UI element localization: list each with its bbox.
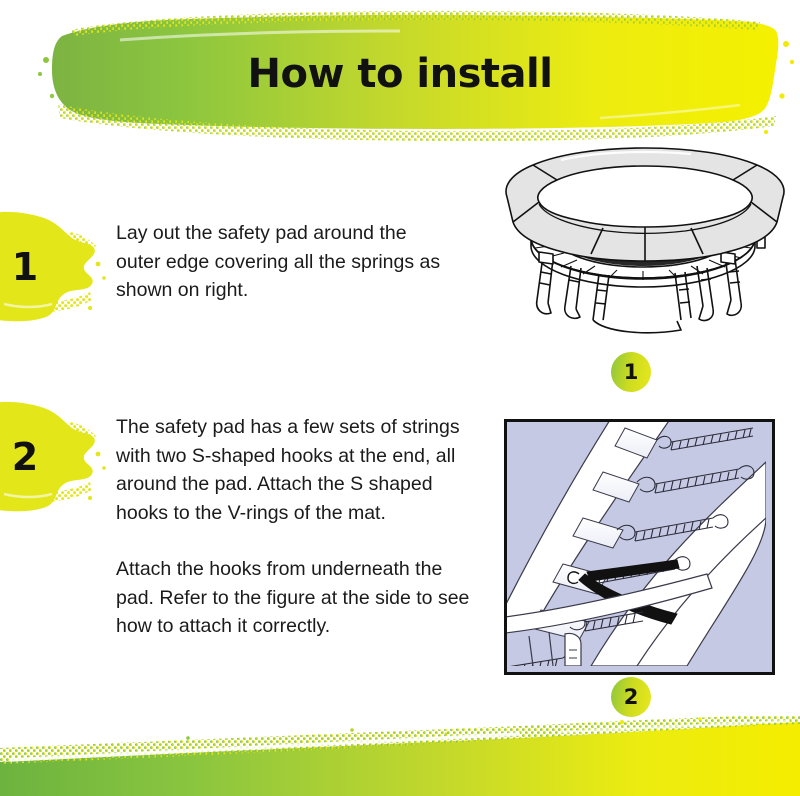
step-2-paragraph-1: The safety pad has a few sets of strings… bbox=[116, 413, 474, 527]
page-title: How to install bbox=[0, 50, 800, 98]
footer-brush-banner bbox=[0, 716, 800, 796]
step-1-number-splash: 1 bbox=[0, 208, 111, 326]
figure-2-badge: 2 bbox=[611, 677, 651, 717]
step-2-number: 2 bbox=[0, 398, 64, 516]
step-2-number-splash: 2 bbox=[0, 398, 111, 516]
step-1-number: 1 bbox=[0, 208, 64, 326]
step-1-text: Lay out the safety pad around the outer … bbox=[116, 219, 446, 305]
step-2-paragraph-2: Attach the hooks from underneath the pad… bbox=[116, 555, 474, 641]
figure-1-badge: 1 bbox=[611, 352, 651, 392]
step-2-text: The safety pad has a few sets of strings… bbox=[116, 413, 474, 641]
trampoline-with-safety-pad-illustration bbox=[495, 140, 795, 345]
step-1-paragraph-1: Lay out the safety pad around the outer … bbox=[116, 219, 446, 305]
spring-hook-detail-illustration bbox=[504, 419, 775, 675]
